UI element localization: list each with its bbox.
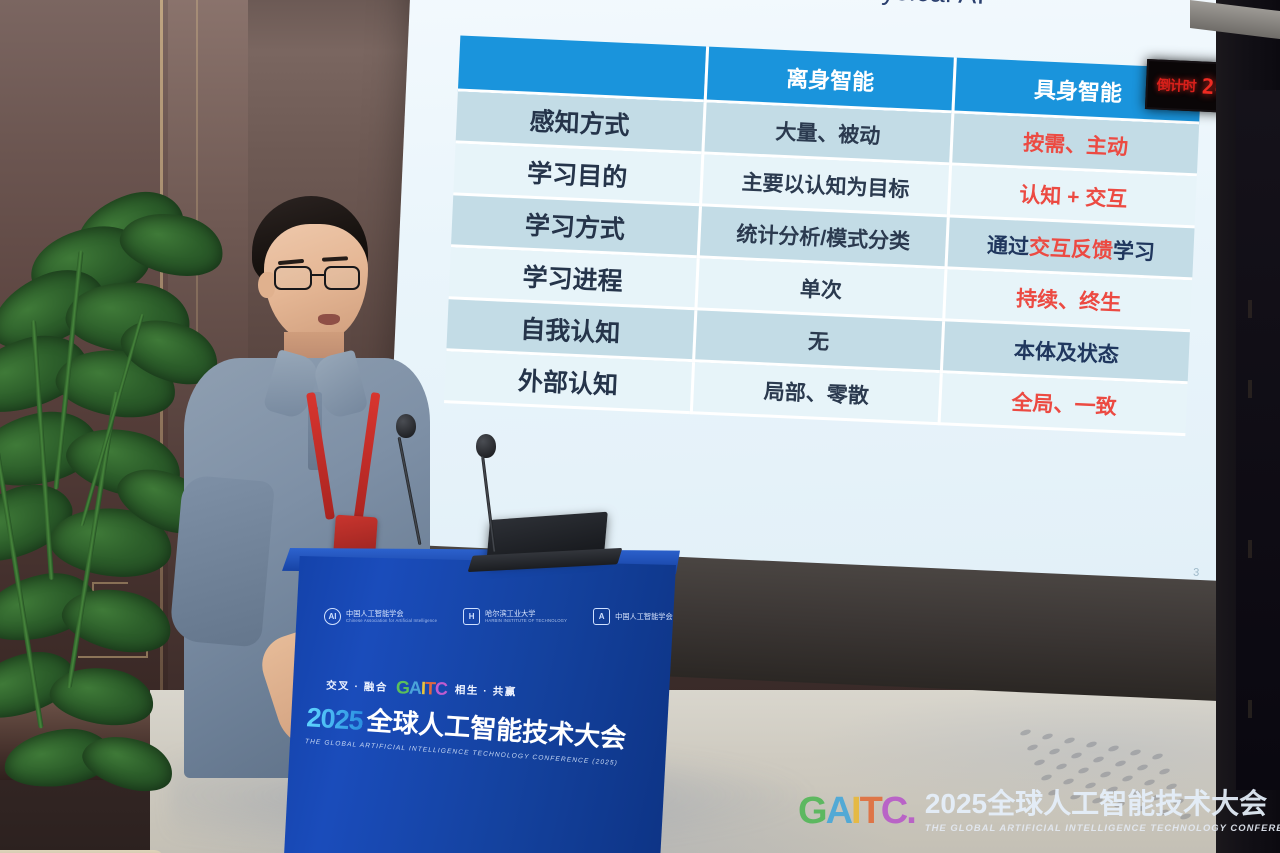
podium-logo-hit: H 哈尔滨工业大学 HARBIN INSTITUTE OF TECHNOLOGY: [463, 608, 567, 625]
wall-slit-3: [1248, 540, 1252, 558]
carpet-dot: [1092, 755, 1104, 763]
caai-mark-icon: AI: [324, 608, 341, 625]
carpet-dot: [1055, 762, 1067, 770]
hit-logo-text: 哈尔滨工业大学 HARBIN INSTITUTE OF TECHNOLOGY: [485, 609, 567, 623]
comparison-table: 离身智能 具身智能 感知方式大量、被动按需、主动学习目的主要以认知为目标认知 +…: [444, 36, 1202, 437]
carpet-dot: [1107, 744, 1119, 752]
carpet-dot: [1099, 770, 1111, 778]
carpet-dot: [1070, 751, 1082, 759]
watermark-subtitle-en: THE GLOBAL ARTIFICIAL INTELLIGENCE TECHN…: [925, 822, 1280, 833]
carpet-dot: [1026, 743, 1038, 751]
watermark-title-cn: 2025全球人工智能技术大会: [925, 790, 1280, 818]
carpet-dot: [1033, 758, 1045, 766]
carpet-dot: [1114, 759, 1126, 767]
carpet-dot: [1151, 752, 1163, 760]
carpet-dot: [1041, 732, 1053, 740]
carpet-dot: [1136, 763, 1148, 771]
carpet-dot: [1129, 748, 1141, 756]
table-cell-disembodied: 局部、零散: [690, 362, 940, 425]
microphone-head-right: [476, 434, 496, 458]
hit-mark-icon: H: [463, 608, 480, 625]
podium-logo-third: A 中国人工智能学会: [593, 608, 673, 625]
podium-title-year: 2025: [306, 702, 364, 737]
conference-photo-scene: rception AI" 到 "Physical AI" 离身智能 具身智能 感…: [0, 0, 1280, 853]
podium-gaitc-logo: GAITC: [396, 677, 448, 700]
dark-wall-right-inner: [1236, 90, 1280, 790]
table-cell-label: 外部认知: [444, 351, 692, 414]
podium-lectern: AI 中国人工智能学会 Chinese Association for Arti…: [284, 556, 676, 853]
speaker-ear: [258, 272, 275, 298]
watermark-gaitc-logo: GAITC.: [798, 790, 915, 833]
carpet-dot: [1085, 740, 1097, 748]
led-presentation-screen: rception AI" 到 "Physical AI" 离身智能 具身智能 感…: [385, 0, 1244, 594]
speaker-mouth: [318, 314, 340, 325]
third-mark-icon: A: [593, 608, 610, 625]
podium-main-title: 2025 全球人工智能技术大会 THE GLOBAL ARTIFICIAL IN…: [305, 696, 648, 769]
caai-logo-text: 中国人工智能学会 Chinese Association for Artific…: [346, 609, 437, 623]
microphone-head-left: [396, 414, 416, 438]
carpet-dot: [1158, 767, 1170, 775]
watermark-title-block: 2025全球人工智能技术大会 THE GLOBAL ARTIFICIAL INT…: [925, 790, 1280, 833]
carpet-dot: [1019, 728, 1031, 736]
glasses-lens-left: [274, 266, 312, 290]
podium-logo-caai: AI 中国人工智能学会 Chinese Association for Arti…: [324, 608, 437, 625]
carpet-dot: [1077, 766, 1089, 774]
table-body: 感知方式大量、被动按需、主动学习目的主要以认知为目标认知 + 交互学习方式统计分…: [444, 91, 1199, 436]
countdown-label: 倒计时: [1156, 74, 1196, 96]
third-logo-text: 中国人工智能学会: [615, 612, 673, 621]
conference-watermark: GAITC. 2025全球人工智能技术大会 THE GLOBAL ARTIFIC…: [798, 780, 1268, 842]
speaker-sleeve: [169, 474, 275, 647]
speaker-glasses: [274, 266, 370, 292]
carpet-dot: [1063, 736, 1075, 744]
podium-sponsor-logos: AI 中国人工智能学会 Chinese Association for Arti…: [324, 608, 624, 625]
carpet-dot: [1048, 747, 1060, 755]
wall-slit-2: [1248, 380, 1252, 398]
podium-tagline-right: 相生 · 共赢: [455, 682, 517, 699]
wall-slit-1: [1248, 300, 1252, 318]
glasses-lens-right: [324, 266, 360, 290]
table-cell-embodied: 全局、一致: [938, 373, 1188, 436]
slide-decorative-triangles: [428, 0, 762, 17]
podium-tagline-left: 交叉 · 融合: [326, 678, 388, 695]
slide-page-number: 3: [1193, 567, 1200, 579]
wall-slit-4: [1248, 700, 1252, 718]
